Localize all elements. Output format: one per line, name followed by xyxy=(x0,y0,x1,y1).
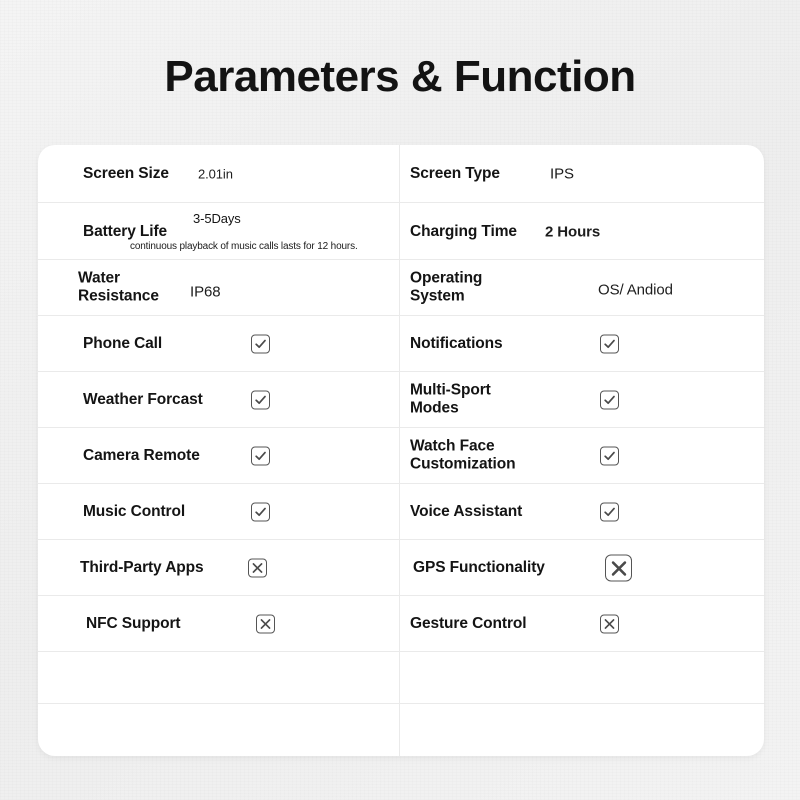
table-cell-right xyxy=(400,704,764,756)
table-cell-left: Screen Size2.01in xyxy=(38,145,400,203)
table-cell-right: Watch Face Customization xyxy=(400,428,764,484)
checkbox-checked-icon[interactable] xyxy=(600,503,619,522)
spec-label: Notifications xyxy=(410,335,503,353)
spec-value: 2.01in xyxy=(198,167,233,182)
spec-label: Water Resistance xyxy=(78,270,159,307)
spec-label: Screen Type xyxy=(410,165,500,183)
page-title: Parameters & Function xyxy=(0,52,800,102)
spec-label: Battery Life xyxy=(83,222,167,240)
spec-label: Screen Size xyxy=(83,165,169,183)
table-row: Screen Size2.01inScreen TypeIPS xyxy=(38,145,764,203)
table-cell-right: Charging Time2 Hours xyxy=(400,203,764,260)
table-row: Phone CallNotifications xyxy=(38,316,764,372)
spec-value: IPS xyxy=(550,166,574,183)
spec-label: Watch Face Customization xyxy=(410,438,515,475)
table-row: Weather ForcastMulti-Sport Modes xyxy=(38,372,764,428)
checkbox-checked-icon[interactable] xyxy=(251,391,270,410)
table-row: Battery Life3-5Dayscontinuous playback o… xyxy=(38,203,764,260)
checkbox-crossed-icon[interactable] xyxy=(605,555,632,582)
table-cell-right: Gesture Control xyxy=(400,596,764,652)
spec-label: GPS Functionality xyxy=(413,559,545,577)
table-row: Third-Party AppsGPS Functionality xyxy=(38,540,764,596)
specification-table-card: Screen Size2.01inScreen TypeIPSBattery L… xyxy=(38,145,764,756)
table-row: Water ResistanceIP68Operating SystemOS/ … xyxy=(38,260,764,316)
spec-value: IP68 xyxy=(190,284,220,301)
checkbox-checked-icon[interactable] xyxy=(251,447,270,466)
table-cell-right: Notifications xyxy=(400,316,764,372)
checkbox-checked-icon[interactable] xyxy=(251,335,270,354)
table-cell-left xyxy=(38,704,400,756)
spec-label: Multi-Sport Modes xyxy=(410,382,491,419)
table-cell-right: GPS Functionality xyxy=(400,540,764,596)
checkbox-checked-icon[interactable] xyxy=(600,335,619,354)
checkbox-checked-icon[interactable] xyxy=(600,447,619,466)
table-cell-left: Third-Party Apps xyxy=(38,540,400,596)
spec-value: 3-5Days xyxy=(193,211,241,226)
checkbox-checked-icon[interactable] xyxy=(600,391,619,410)
spec-label: Operating System xyxy=(410,270,482,307)
spec-value-note: continuous playback of music calls lasts… xyxy=(130,241,358,252)
spec-label: NFC Support xyxy=(86,615,180,633)
spec-label: Camera Remote xyxy=(83,447,200,465)
spec-label: Music Control xyxy=(83,503,185,521)
checkbox-checked-icon[interactable] xyxy=(251,503,270,522)
table-cell-left: Camera Remote xyxy=(38,428,400,484)
table-cell-left: Music Control xyxy=(38,484,400,540)
table-row: Music ControlVoice Assistant xyxy=(38,484,764,540)
spec-label: Gesture Control xyxy=(410,615,526,633)
table-row xyxy=(38,704,764,756)
table-cell-right: Multi-Sport Modes xyxy=(400,372,764,428)
spec-value: OS/ Andiod xyxy=(598,282,673,299)
spec-label: Phone Call xyxy=(83,335,162,353)
table-cell-left xyxy=(38,652,400,704)
table-cell-right: Operating SystemOS/ Andiod xyxy=(400,260,764,316)
table-cell-right: Voice Assistant xyxy=(400,484,764,540)
table-cell-left: NFC Support xyxy=(38,596,400,652)
table-row: Camera RemoteWatch Face Customization xyxy=(38,428,764,484)
spec-value: 2 Hours xyxy=(545,223,600,240)
table-cell-left: Phone Call xyxy=(38,316,400,372)
checkbox-crossed-icon[interactable] xyxy=(248,559,267,578)
table-row: NFC SupportGesture Control xyxy=(38,596,764,652)
table-row xyxy=(38,652,764,704)
checkbox-crossed-icon[interactable] xyxy=(256,615,275,634)
spec-label: Weather Forcast xyxy=(83,391,203,409)
checkbox-crossed-icon[interactable] xyxy=(600,615,619,634)
table-cell-left: Weather Forcast xyxy=(38,372,400,428)
spec-label: Charging Time xyxy=(410,222,517,240)
table-cell-left: Battery Life3-5Dayscontinuous playback o… xyxy=(38,203,400,260)
table-cell-right: Screen TypeIPS xyxy=(400,145,764,203)
spec-label: Voice Assistant xyxy=(410,503,522,521)
table-cell-right xyxy=(400,652,764,704)
table-cell-left: Water ResistanceIP68 xyxy=(38,260,400,316)
spec-label: Third-Party Apps xyxy=(80,559,204,577)
